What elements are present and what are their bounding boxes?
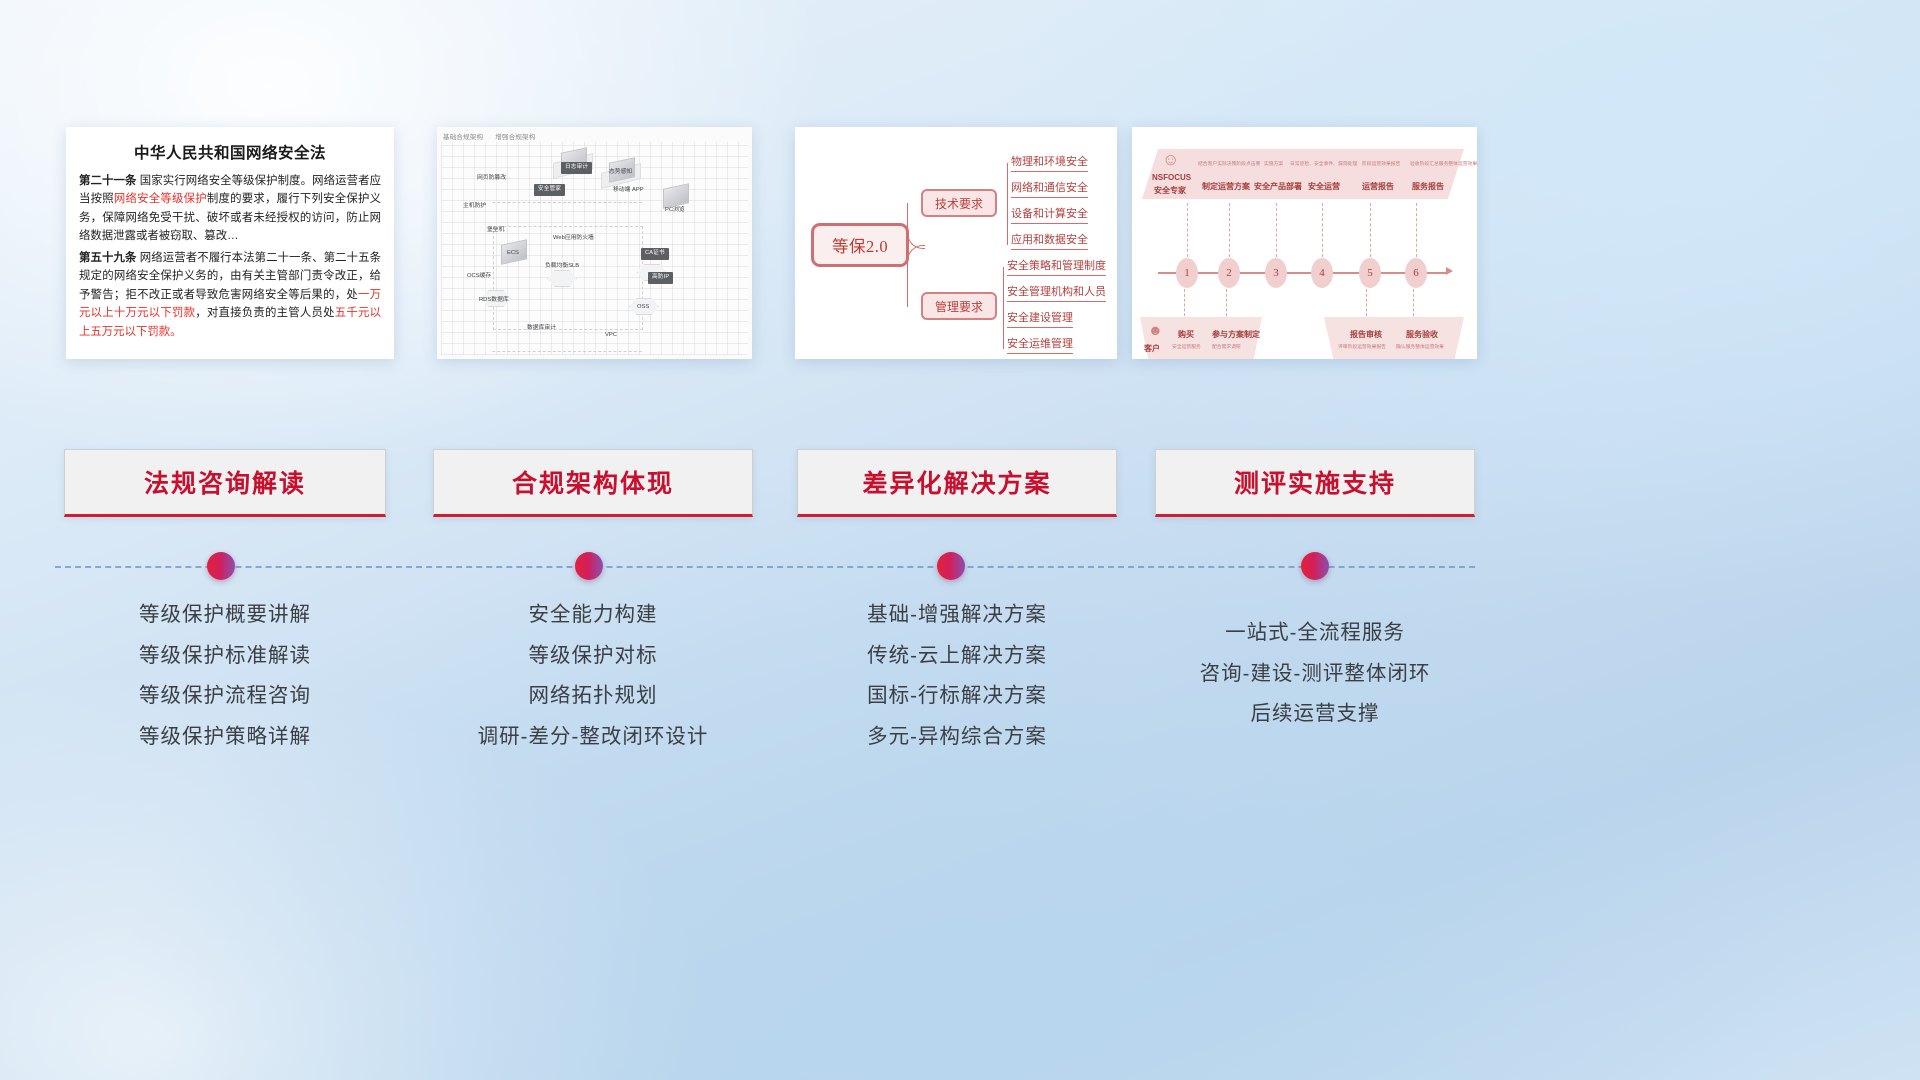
list-item: 调研-差分-整改闭环设计 <box>433 727 753 748</box>
law-p59-seg2: ，对直接负责的主管人员处 <box>195 307 334 319</box>
section-title-label-3: 差异化解决方案 <box>862 464 1051 500</box>
mindmap-branch-management: 管理要求 <box>921 292 997 320</box>
flow-step-4-sub: 验收阶段汇总服务整体运营效果 <box>1410 160 1477 167</box>
flow-br-1-sub: 确认服务整体运营效果 <box>1396 343 1444 350</box>
arch-node-11: OSS <box>637 304 649 310</box>
list-item: 后续运营支撑 <box>1155 704 1475 725</box>
section-items-col-1: 等级保护概要讲解 等级保护标准解读 等级保护流程咨询 等级保护策略详解 <box>64 605 386 767</box>
arch-node-9: CA证书 <box>641 248 669 260</box>
card-mindmap-dengbao: 等保2.0 技术要求 管理要求 物理和环境安全 网络和通信安全 设备和计算安全 … <box>795 127 1117 359</box>
flow-step-number-5: 5 <box>1359 258 1381 288</box>
arch-node-12: RDS数据库 <box>479 294 509 303</box>
timeline-dot-4[interactable] <box>1301 552 1329 580</box>
card-service-flow: ☺ NSFOCUS 安全专家 结合客户实际决策阶段点击要 制定运营方案 实施方案… <box>1132 127 1477 359</box>
flow-step-number-2: 2 <box>1218 258 1240 288</box>
arch-node-5: 堡垒机 <box>487 224 504 233</box>
mindmap-spine-mgmt <box>1003 267 1004 349</box>
section-title-box-1[interactable]: 法规咨询解读 <box>64 449 386 517</box>
arch-node-17: 移动端 APP <box>613 184 644 193</box>
flow-step-0-sub: 结合客户实际决策阶段点击要 <box>1198 160 1260 167</box>
section-items-col-4: 一站式-全流程服务 咨询-建设-测评整体闭环 后续运营支撑 <box>1155 623 1475 745</box>
arch-node-4: 主机防护 <box>463 200 486 209</box>
flow-step-number-3: 3 <box>1265 258 1287 288</box>
section-title-label-1: 法规咨询解读 <box>144 464 306 500</box>
arch-node-6: Web应用防火墙 <box>553 232 594 241</box>
mindmap-leaf-m3: 安全运维管理 <box>1007 335 1073 354</box>
flow-tick-4 <box>1322 203 1323 257</box>
section-title-box-4[interactable]: 测评实施支持 <box>1155 449 1475 517</box>
customer-person-icon: ☻ <box>1148 323 1163 337</box>
arch-node-2: 态势感知 <box>609 166 632 175</box>
section-items-col-3: 基础-增强解决方案 传统-云上解决方案 国标-行标解决方案 多元-异构综合方案 <box>797 605 1117 767</box>
flow-step-number-4: 4 <box>1311 258 1333 288</box>
arch-node-10: 高防IP <box>648 272 673 284</box>
section-title-row: 法规咨询解读 合规架构体现 差异化解决方案 测评实施支持 <box>0 449 1920 519</box>
timeline-dot-3[interactable] <box>937 552 965 580</box>
timeline-dot-1[interactable] <box>207 552 235 580</box>
list-item: 传统-云上解决方案 <box>797 646 1117 667</box>
section-title-box-3[interactable]: 差异化解决方案 <box>797 449 1117 517</box>
flow-tick-down-2 <box>1226 289 1227 321</box>
list-item: 安全能力构建 <box>433 605 753 626</box>
arch-header-labels: 基础合规架构 增强合规架构 <box>443 131 545 141</box>
mindmap-leaf-m0: 安全策略和管理制度 <box>1007 257 1106 276</box>
flow-br-0-sub: 评审阶段运营效果报告 <box>1338 343 1386 350</box>
list-item: 基础-增强解决方案 <box>797 605 1117 626</box>
list-item: 等级保护概要讲解 <box>64 605 386 626</box>
arch-node-7: 负载均衡SLB <box>545 260 579 269</box>
law-paragraph-59: 第五十九条 网络运营者不履行本法第二十一条、第二十五条规定的网络安全保护义务的，… <box>79 249 381 341</box>
arch-node-3: 网页防篡改 <box>477 172 506 181</box>
flow-tick-down-1 <box>1184 289 1185 321</box>
flow-expert-role: 安全专家 <box>1154 185 1186 196</box>
section-items-col-2: 安全能力构建 等级保护对标 网络拓扑规划 调研-差分-整改闭环设计 <box>433 605 753 767</box>
flow-bottom-right-panel <box>1324 317 1464 359</box>
list-item: 等级保护标准解读 <box>64 646 386 667</box>
slide-canvas: 中华人民共和国网络安全法 第二十一条 国家实行网络安全等级保护制度。网络运营者应… <box>0 0 1920 1080</box>
flow-tick-2 <box>1229 203 1230 257</box>
flow-step-2-title: 安全运营 <box>1308 181 1340 192</box>
law-article-21-label: 第二十一条 <box>79 175 136 187</box>
timeline <box>55 566 1475 568</box>
list-item: 网络拓扑规划 <box>433 686 753 707</box>
flow-tick-down-3 <box>1366 289 1367 321</box>
mindmap-branch-technical: 技术要求 <box>921 189 997 217</box>
section-title-label-2: 合规架构体现 <box>512 464 674 500</box>
card-compliance-architecture: 基础合规架构 增强合规架构 日志审计 <box>437 127 752 359</box>
mindmap-leaf-t1: 网络和通信安全 <box>1011 179 1088 198</box>
flow-step-number-1: 1 <box>1176 258 1198 288</box>
mindmap-root-node: 等保2.0 <box>811 223 909 267</box>
mindmap-leaf-t0: 物理和环境安全 <box>1011 153 1088 172</box>
list-item: 等级保护策略详解 <box>64 727 386 748</box>
flow-step-1-title: 安全产品部署 <box>1254 181 1302 192</box>
arch-node-13: OCS缓存 <box>467 270 491 279</box>
flow-br-0-title: 报告审核 <box>1350 329 1382 340</box>
list-item: 国标-行标解决方案 <box>797 686 1117 707</box>
arch-node-15: VPC <box>605 332 617 338</box>
flow-tick-6 <box>1416 203 1417 257</box>
section-title-box-2[interactable]: 合规架构体现 <box>433 449 753 517</box>
timeline-dashed-line <box>55 566 1475 568</box>
arch-node-0: 日志审计 <box>561 162 592 174</box>
section-items-row: 等级保护概要讲解 等级保护标准解读 等级保护流程咨询 等级保护策略详解 安全能力… <box>0 605 1920 825</box>
law-paragraph-21: 第二十一条 国家实行网络安全等级保护制度。网络运营者应当按照网络安全等级保护制度… <box>79 172 381 246</box>
section-title-label-4: 测评实施支持 <box>1234 464 1396 500</box>
flow-axis-arrow-icon <box>1446 267 1453 275</box>
law-p21-seg1-highlight: 网络安全等级保护 <box>114 193 207 205</box>
arch-node-14: 数据库审计 <box>527 322 556 331</box>
mindmap: 等保2.0 技术要求 管理要求 物理和环境安全 网络和通信安全 设备和计算安全 … <box>795 127 1117 359</box>
flow-step-3-title: 运营报告 <box>1362 181 1394 192</box>
flow-step-0-title: 制定运营方案 <box>1202 181 1250 192</box>
timeline-dot-2[interactable] <box>575 552 603 580</box>
mindmap-leaf-m1: 安全管理机构和人员 <box>1007 283 1106 302</box>
law-title: 中华人民共和国网络安全法 <box>79 141 381 163</box>
mindmap-leaf-t3: 应用和数据安全 <box>1011 231 1088 250</box>
flow-step-number-6: 6 <box>1405 258 1427 288</box>
flow-step-2-sub: 日常巡检、安全事件、漏洞处理 <box>1290 160 1357 167</box>
mindmap-spine-tech <box>1007 163 1008 245</box>
list-item: 等级保护对标 <box>433 646 753 667</box>
flow-expert-brand: NSFOCUS <box>1152 173 1191 182</box>
arch-canvas: 日志审计 安全管家 态势感知 网页防篡改 主机防护 堡垒机 Web应用防火墙 负… <box>441 142 748 355</box>
service-flow-diagram: ☺ NSFOCUS 安全专家 结合客户实际决策阶段点击要 制定运营方案 实施方案… <box>1132 127 1477 359</box>
flow-tick-3 <box>1276 203 1277 257</box>
expert-person-icon: ☺ <box>1162 151 1179 168</box>
arch-node-8: ECS <box>507 250 519 256</box>
mindmap-leaf-m2: 安全建设管理 <box>1007 309 1073 328</box>
architecture-diagram: 基础合规架构 增强合规架构 日志审计 <box>437 127 752 359</box>
arch-header-label-enhanced: 增强合规架构 <box>495 134 535 141</box>
mindmap-leaf-t2: 设备和计算安全 <box>1011 205 1088 224</box>
list-item: 一站式-全流程服务 <box>1155 623 1475 644</box>
card-cybersecurity-law: 中华人民共和国网络安全法 第二十一条 国家实行网络安全等级保护制度。网络运营者应… <box>66 127 394 359</box>
list-item: 咨询-建设-测评整体闭环 <box>1155 664 1475 685</box>
flow-step-4-title: 服务报告 <box>1412 181 1444 192</box>
arch-node-16: PC浏览 <box>665 204 685 213</box>
arch-header-label-basic: 基础合规架构 <box>443 134 483 141</box>
arch-node-1: 安全管家 <box>534 184 565 196</box>
list-item: 等级保护流程咨询 <box>64 686 386 707</box>
flow-br-1-title: 服务验收 <box>1406 329 1438 340</box>
image-card-row: 中华人民共和国网络安全法 第二十一条 国家实行网络安全等级保护制度。网络运营者应… <box>0 127 1920 362</box>
flow-tick-down-4 <box>1413 289 1414 321</box>
flow-step-1-sub: 实施方案 <box>1264 160 1283 167</box>
flow-tick-5 <box>1370 203 1371 257</box>
flow-bl-1-sub: 配合需求调研 <box>1212 343 1241 350</box>
flow-tick-1 <box>1187 203 1188 257</box>
flow-step-3-sub: 阶段运营效果报告 <box>1362 160 1400 167</box>
list-item: 多元-异构综合方案 <box>797 727 1117 748</box>
flow-bl-1-title: 参与方案制定 <box>1212 329 1260 340</box>
flow-bl-0-title: 购买 <box>1178 329 1194 340</box>
flow-customer-role: 客户 <box>1144 343 1160 354</box>
flow-bl-0-sub: 安全运营服务 <box>1172 343 1201 350</box>
law-article-59-label: 第五十九条 <box>79 252 136 264</box>
law-text-block: 中华人民共和国网络安全法 第二十一条 国家实行网络安全等级保护制度。网络运营者应… <box>66 127 394 352</box>
